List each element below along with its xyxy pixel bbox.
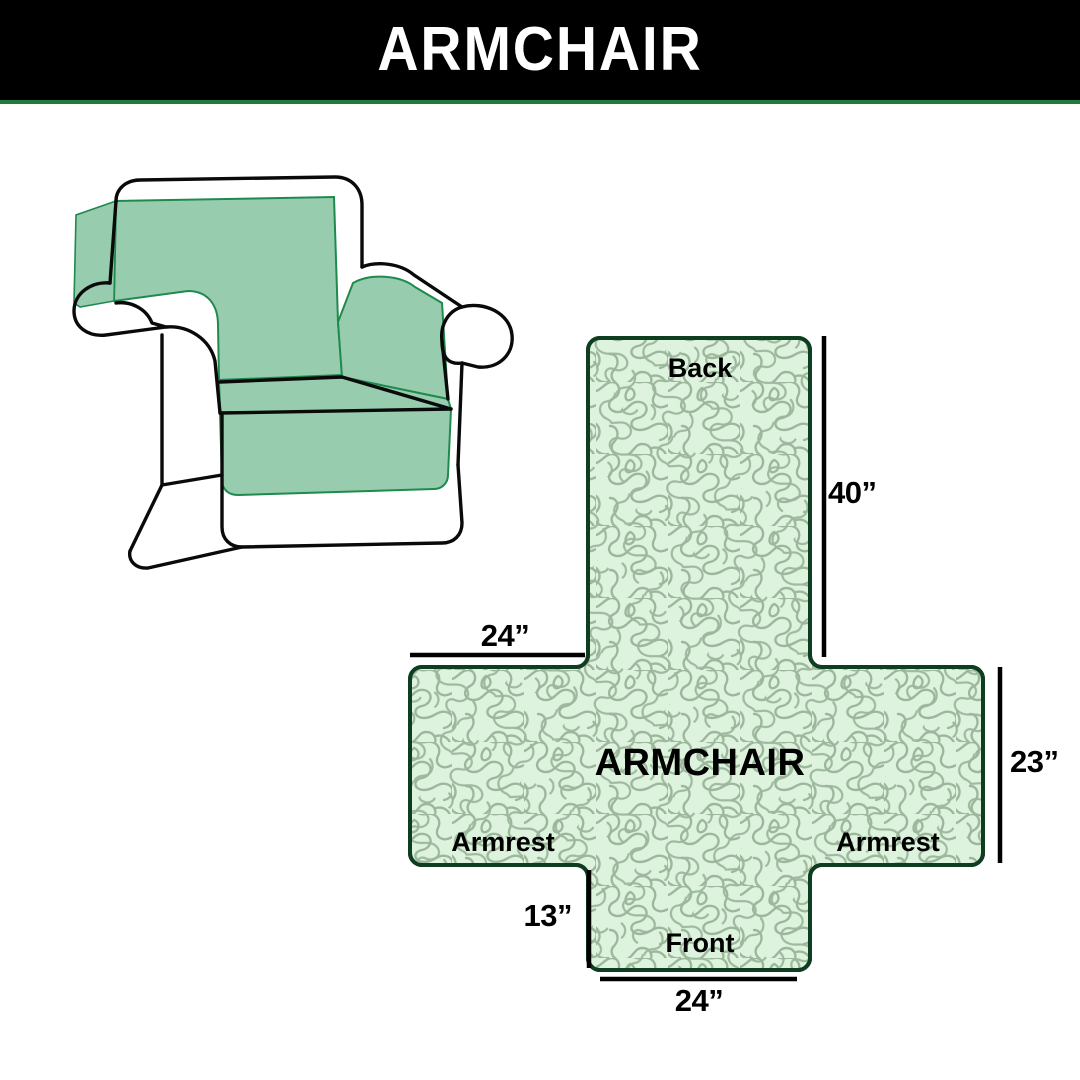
dimension-label-front-width: 24” [675, 985, 723, 1016]
page-root: ARMCHAIR [0, 0, 1080, 1080]
panel-label-back: Back [668, 355, 733, 382]
dimension-label-front-height: 13” [524, 900, 572, 931]
header-accent-rule [0, 100, 1080, 104]
header-banner: ARMCHAIR [0, 0, 1080, 100]
panel-label-front: Front [666, 930, 735, 957]
cover-pattern-diagram [380, 310, 1080, 1020]
panel-label-center: ARMCHAIR [595, 744, 806, 782]
dimension-label-seat-depth: 23” [1010, 746, 1058, 777]
page-title: ARMCHAIR [43, 0, 1037, 100]
dimension-label-back-width: 24” [481, 620, 529, 651]
dimension-label-back-height: 40” [828, 477, 876, 508]
panel-label-armrest-left: Armrest [451, 829, 555, 856]
panel-label-armrest-right: Armrest [836, 829, 940, 856]
